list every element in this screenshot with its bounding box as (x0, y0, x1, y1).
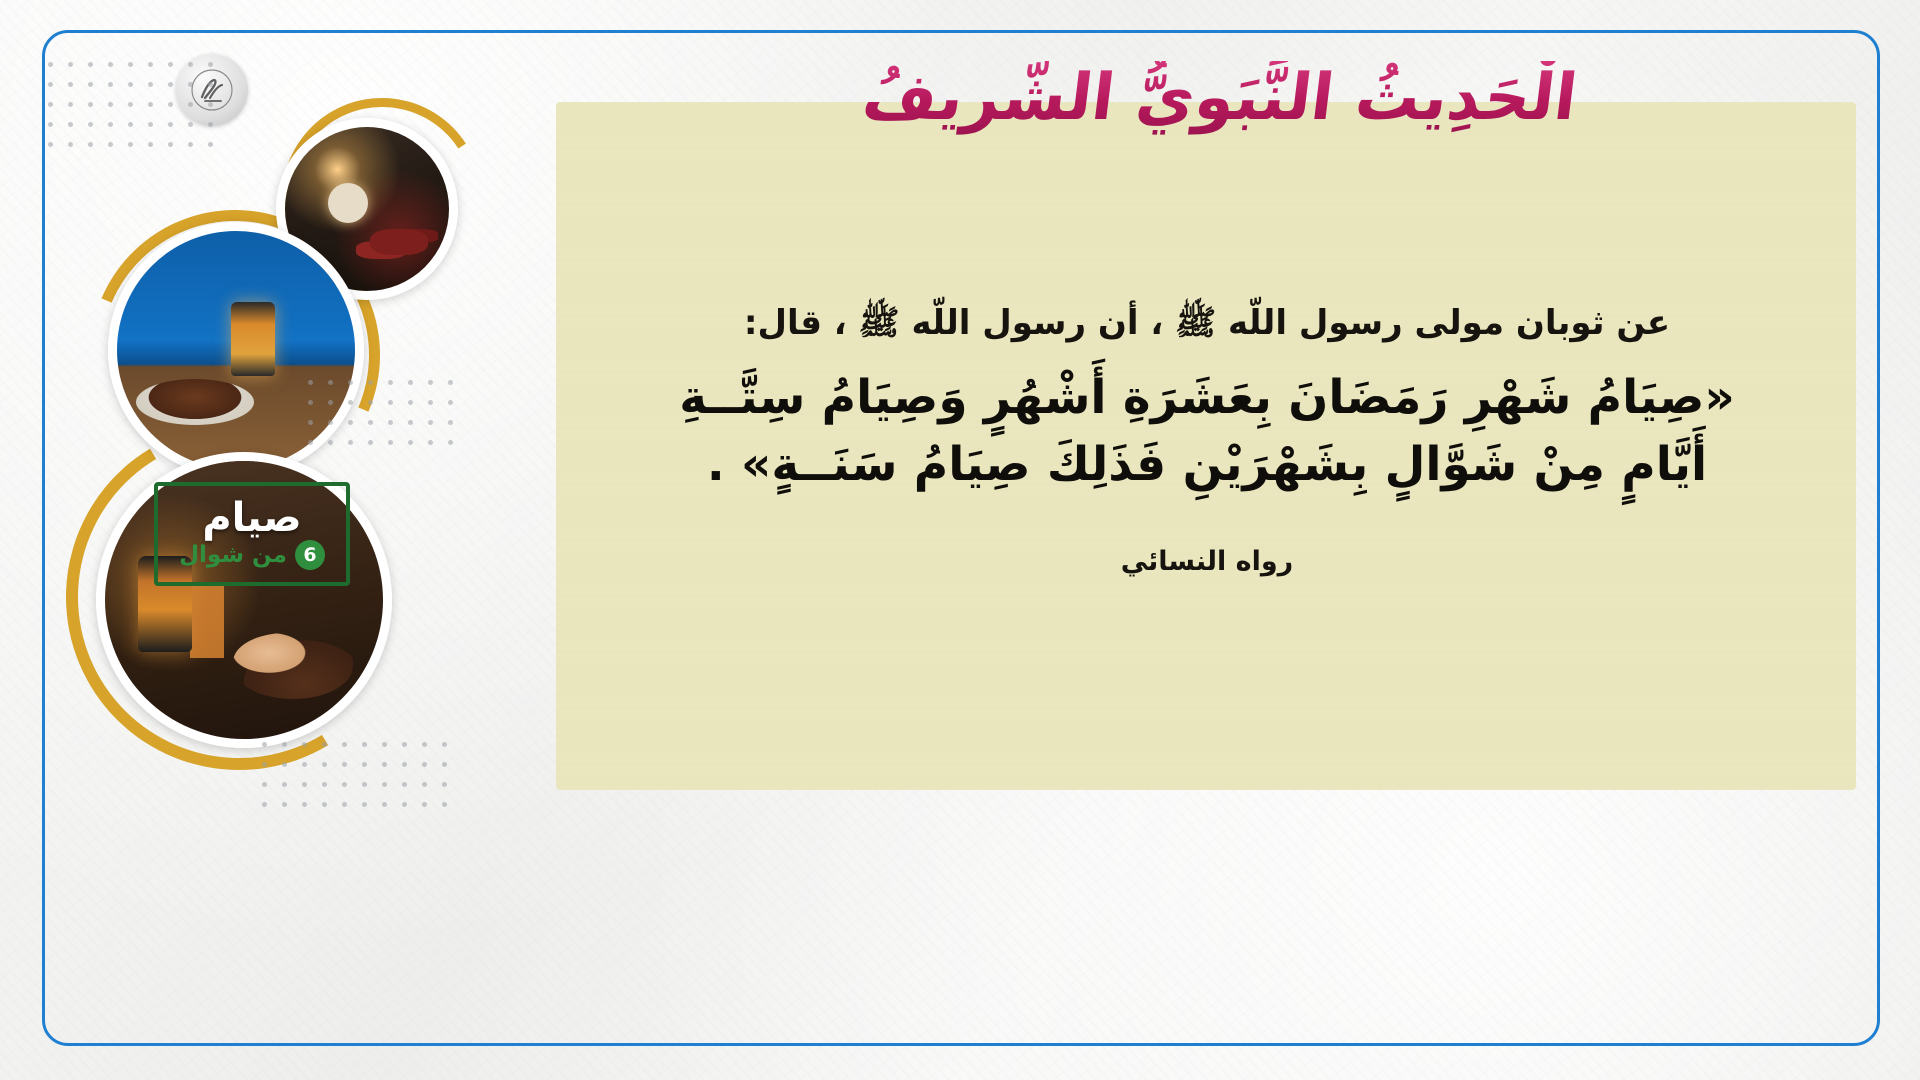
logo-sub-label: من شوال (179, 544, 287, 567)
hadith-source-attribution: رواه النسائي (628, 546, 1786, 577)
hadith-narrator-line: عن ثوبان مولى رسول اللّه ﷺ ، أن رسول الل… (628, 298, 1786, 349)
hadith-quote: «صِيَامُ شَهْرِ رَمَضَانَ بِعَشَرَةِ أَش… (628, 365, 1786, 498)
hadith-quote-line-2: أَيَّامٍ مِنْ شَوَّالٍ بِشَهْرَيْنِ فَذَ… (628, 432, 1786, 499)
logo-bottom-row: 6 من شوال (179, 540, 325, 570)
logo-top-label: صيام (202, 498, 301, 538)
dot-grid-middle-left (308, 380, 458, 458)
dot-grid-bottom-left (262, 742, 458, 816)
siyam-shawwal-logo: صيام 6 من شوال (154, 482, 350, 586)
logo-number-badge: 6 (295, 540, 325, 570)
hadith-text-block: عن ثوبان مولى رسول اللّه ﷺ ، أن رسول الل… (576, 150, 1838, 750)
left-decoration-column: صيام 6 من شوال (44, 32, 514, 1044)
hadith-quote-line-1: «صِيَامُ شَهْرِ رَمَضَانَ بِعَشَرَةِ أَش… (628, 365, 1786, 432)
dot-grid-top-left (48, 62, 218, 154)
